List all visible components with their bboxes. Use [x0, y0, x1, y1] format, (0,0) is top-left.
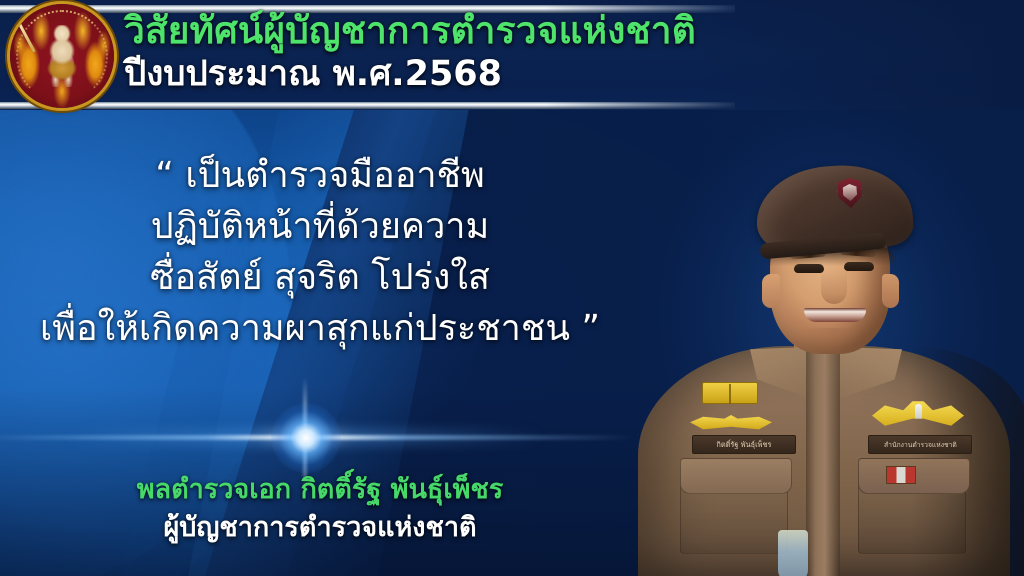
- lens-flare-icon: [305, 437, 307, 439]
- signature-block: พลตำรวจเอก กิตติ์รัฐ พันธุ์เพ็ชร ผู้บัญช…: [0, 472, 640, 545]
- uniform-name-tag-text: กิตติ์รัฐ พันธุ์เพ็ชร: [716, 439, 771, 451]
- ear-right: [882, 274, 899, 308]
- eye-left: [794, 264, 824, 273]
- portrait-photo: กิตติ์รัฐ พันธุ์เพ็ชร สำนักงานตำรวจแห่งช…: [610, 76, 1024, 576]
- uniform-unit-tag: สำนักงานตำรวจแห่งชาติ: [868, 435, 972, 454]
- header-title-line-2: ปีงบประมาณ พ.ศ.2568: [124, 53, 744, 95]
- royal-thai-police-emblem-icon: [10, 4, 114, 108]
- header-title-line-1: วิสัยทัศน์ผู้บัญชาการตำรวจแห่งชาติ: [124, 10, 744, 51]
- quote-line-1: “ เป็นตำรวจมืออาชีพ: [0, 150, 640, 201]
- quote-line-2: ปฏิบัติหน้าที่ด้วยความ: [0, 201, 640, 252]
- quote-line-3: ซื่อสัตย์ สุจริต โปร่งใส: [0, 252, 640, 303]
- ear-left: [762, 274, 780, 308]
- mouth: [804, 308, 866, 322]
- header-title-group: วิสัยทัศน์ผู้บัญชาการตำรวจแห่งชาติ ปีงบป…: [124, 10, 744, 95]
- quote-line-4: เพื่อให้เกิดความผาสุกแก่ประชาชน ”: [0, 303, 640, 354]
- slide-canvas: กิตติ์รัฐ พันธุ์เพ็ชร สำนักงานตำรวจแห่งช…: [0, 0, 1024, 576]
- rank-insignia-icon: [702, 382, 758, 404]
- service-ribbon-icon: [886, 466, 916, 484]
- signature-name: พลตำรวจเอก กิตติ์รัฐ พันธุ์เพ็ชร: [0, 472, 640, 507]
- vision-quote: “ เป็นตำรวจมืออาชีพ ปฏิบัติหน้าที่ด้วยคว…: [0, 150, 640, 354]
- uniform-name-tag: กิตติ์รัฐ พันธุ์เพ็ชร: [692, 435, 796, 454]
- uniform-placket: [806, 346, 840, 576]
- nose: [821, 270, 847, 304]
- uniform-unit-tag-text: สำนักงานตำรวจแห่งชาติ: [884, 439, 957, 450]
- eye-right: [844, 262, 874, 271]
- signature-position: ผู้บัญชาการตำรวจแห่งชาติ: [0, 510, 640, 545]
- uniform-pocket-left: [680, 458, 788, 554]
- hanging-badge-icon: [778, 530, 808, 576]
